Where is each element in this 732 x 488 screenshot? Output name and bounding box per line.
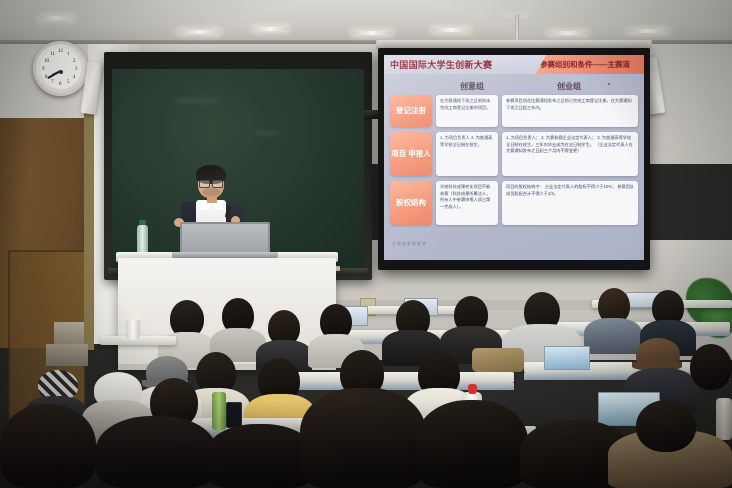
clock-numeral: 4 <box>73 75 76 80</box>
slide-banner-text: 参赛组别和条件——主赛道 <box>540 59 630 70</box>
slide-title: 中国国际大学生创新大赛 <box>390 58 492 71</box>
clock-numeral: 11 <box>50 52 55 57</box>
slide-row-label: 项目 申报人 <box>390 132 432 176</box>
desk-edge <box>284 383 514 390</box>
slide-cell-text: 在大赛通知下发之日前尚未完成工商登记注册的项目。 <box>440 98 494 111</box>
door[interactable] <box>0 118 92 348</box>
water-bottle <box>212 392 226 430</box>
clock-numeral: 7 <box>51 80 54 85</box>
slide-bullet-dot <box>608 83 610 85</box>
ceiling-light <box>40 16 74 20</box>
slide-cell-text: 学校科技成果转化项目不能参赛（科技成果所属法人，所有人中参赛申报人须占第一完成人… <box>440 184 494 210</box>
ceiling-light <box>548 31 588 35</box>
water-bottle <box>716 398 732 440</box>
student-head-foreground <box>0 404 96 488</box>
coffee-cup <box>126 318 140 340</box>
slide-cell: 参赛项目须在比赛通知发布之日前已完成工商登记注册，在大赛通知下发之日起三年内。 <box>502 95 638 127</box>
chalk-smudge <box>174 97 220 104</box>
glasses-lens <box>199 180 210 188</box>
ceiling-light <box>432 28 470 32</box>
clock-numeral: 12 <box>58 49 63 54</box>
student-head-foreground <box>416 400 528 488</box>
slide-cell: 1. 为项目负责人； 2. 大赛参赛企业法定代表人； 3. 为普通高等学校全日制… <box>502 132 638 176</box>
bottle-cap <box>468 384 477 394</box>
clock-numeral: 6 <box>59 82 62 87</box>
clock-numeral: 10 <box>44 59 49 64</box>
slide-row-label: 登记注册 <box>390 95 432 127</box>
door-frame <box>84 112 94 350</box>
student-phone[interactable] <box>226 402 242 428</box>
chalk-smudge <box>252 131 282 136</box>
clock-center-pin <box>59 70 63 74</box>
ceiling-light <box>252 27 288 31</box>
clock-numeral: 1 <box>67 52 70 57</box>
clock-numeral: 2 <box>73 59 76 64</box>
slide-cell-text: 参赛项目须在比赛通知发布之日前已完成工商登记注册，在大赛通知下发之日起三年内。 <box>506 98 634 111</box>
student-head-foreground <box>96 416 216 488</box>
wall-clock: 12 1 2 3 4 5 6 7 8 9 10 11 <box>33 41 88 96</box>
clock-numeral: 3 <box>75 67 78 72</box>
leopard-bag <box>472 348 524 372</box>
clock-face: 12 1 2 3 4 5 6 7 8 9 10 11 <box>40 48 81 89</box>
slide-cell: 项目的股权结构中： 企业法定代表人的股权不得少于10%； 参赛团队成员股权合计不… <box>502 181 638 225</box>
stairs <box>46 344 88 366</box>
slide-row-label: 股权结构 <box>390 181 432 225</box>
student-laptop[interactable] <box>544 346 590 370</box>
coffee-cup-lid <box>124 314 142 320</box>
glasses-icon <box>199 180 223 186</box>
clock-numeral: 5 <box>67 80 70 85</box>
slide-banner: 参赛组别和条件——主赛道 <box>536 55 644 74</box>
clock-numeral: 9 <box>42 67 45 72</box>
student-head-foreground <box>206 424 314 488</box>
ceiling-light <box>352 31 392 35</box>
presentation-slide: 中国国际大学生创新大赛 参赛组别和条件——主赛道 创意组 创业组 登记注册 在大… <box>384 55 644 260</box>
slide-cell-text: 项目的股权结构中： 企业法定代表人的股权不得少于10%； 参赛团队成员股权合计不… <box>506 184 634 197</box>
glasses-lens <box>212 180 223 188</box>
student-head <box>690 344 732 390</box>
presenter-face-shading <box>202 188 220 196</box>
ceiling-light <box>178 30 220 34</box>
slide-cell: 学校科技成果转化项目不能参赛（科技成果所属法人，所有人中参赛申报人须占第一完成人… <box>436 181 498 225</box>
slide-column-header-2: 创业组 <box>534 81 604 92</box>
slide-footer: 主赛道参赛要求 <box>392 241 427 247</box>
slide-cell-text: 1. 为项目负责人 2. 为普通高等学校全日制在校生。 <box>440 135 494 148</box>
desk-row <box>284 372 514 383</box>
slide-column-header-1: 创意组 <box>444 81 500 92</box>
ceiling-light <box>628 29 668 33</box>
student-head-foreground <box>636 400 696 452</box>
slide-cell-text: 1. 为项目负责人； 2. 大赛参赛企业法定代表人； 3. 为普通高等学校全日制… <box>506 135 634 155</box>
student-body <box>584 318 642 354</box>
slide-cell: 1. 为项目负责人 2. 为普通高等学校全日制在校生。 <box>436 132 498 176</box>
student-head-foreground <box>300 388 426 488</box>
lecture-hall-photo: 12 1 2 3 4 5 6 7 8 9 10 11 <box>0 0 732 488</box>
slide-cell: 在大赛通知下发之日前尚未完成工商登记注册的项目。 <box>436 95 498 127</box>
